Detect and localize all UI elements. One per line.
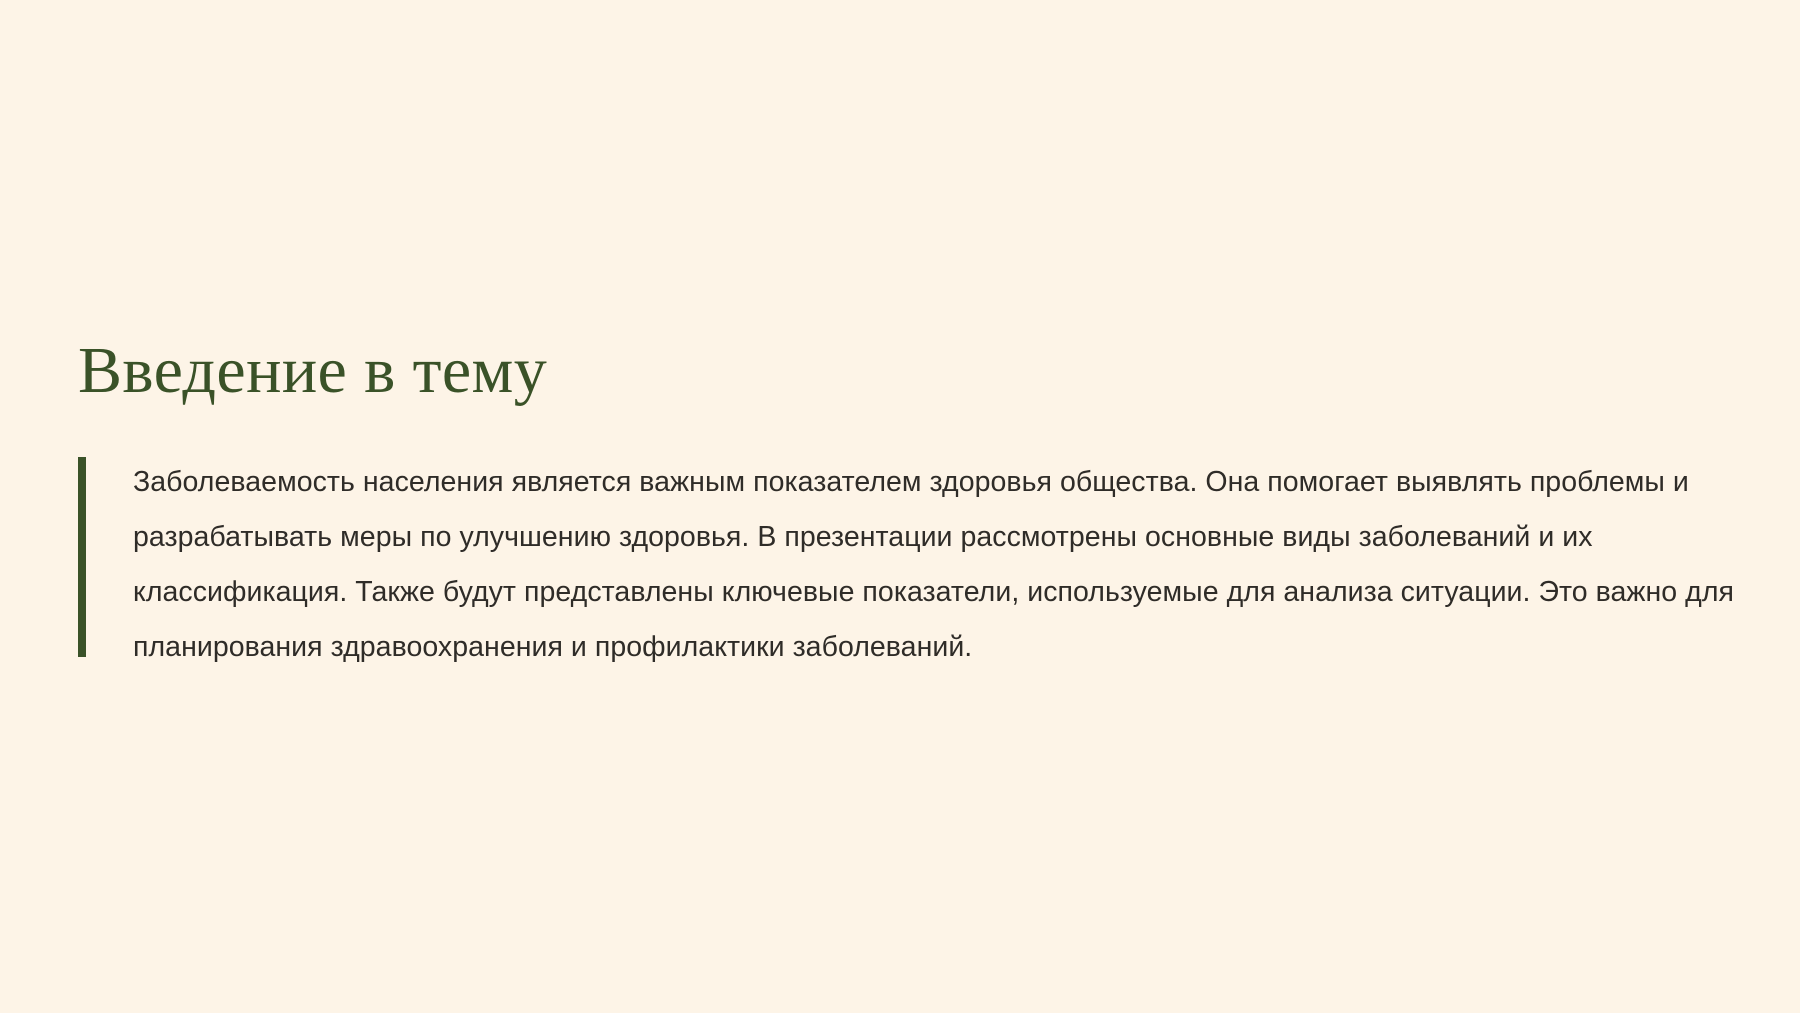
slide-content-area: Введение в тему Заболеваемость населения…: [78, 338, 1778, 675]
page-title: Введение в тему: [78, 338, 1778, 404]
body-paragraph: Заболеваемость населения является важным…: [133, 455, 1758, 675]
presentation-slide: Введение в тему Заболеваемость населения…: [0, 0, 1800, 1013]
body-quote-block: Заболеваемость населения является важным…: [78, 455, 1778, 675]
accent-bar: [78, 457, 86, 657]
